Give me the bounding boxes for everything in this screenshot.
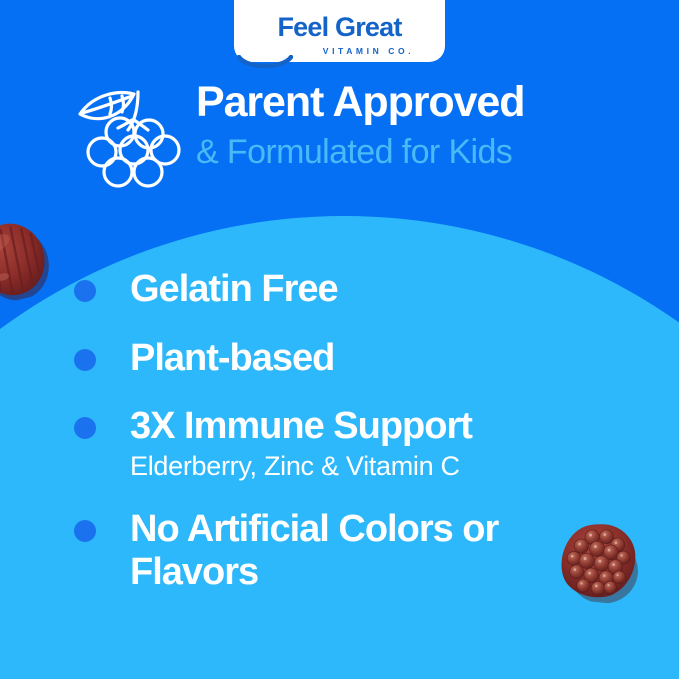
logo-wordmark: Feel Great [277,14,401,41]
list-item-title: Plant-based [130,337,634,380]
list-item: 3X Immune Support Elderberry, Zinc & Vit… [74,405,634,482]
header-text: Parent Approved & Formulated for Kids [196,80,666,172]
header-block: Parent Approved & Formulated for Kids [0,76,679,196]
list-item: Gelatin Free [74,268,634,311]
logo-tagline: VITAMIN CO. [323,47,414,56]
list-item-title: Gelatin Free [130,268,634,311]
elderberry-gummy-berry-icon [552,514,644,606]
list-item: Plant-based [74,337,634,380]
page-title: Parent Approved [196,80,666,125]
elderberry-gummy-ribbed-icon [0,209,57,307]
list-item-subtitle: Elderberry, Zinc & Vitamin C [130,450,634,482]
bullet-dot-icon [74,280,96,302]
smile-swoosh-icon [237,55,293,69]
list-item-body: Plant-based [130,337,634,380]
bullet-dot-icon [74,349,96,371]
product-feature-graphic: Feel Great VITAMIN CO. [0,0,679,679]
list-item-body: Gelatin Free [130,268,634,311]
bullet-dot-icon [74,417,96,439]
logo-card[interactable]: Feel Great VITAMIN CO. [234,0,445,62]
page-subtitle: & Formulated for Kids [196,133,666,172]
bullet-dot-icon [74,520,96,542]
list-item-title: 3X Immune Support [130,405,634,448]
feature-list: Gelatin Free Plant-based 3X Immune Suppo… [74,268,634,619]
list-item: No Artificial Colors or Flavors [74,508,634,593]
list-item-body: 3X Immune Support Elderberry, Zinc & Vit… [130,405,634,482]
elderberry-cluster-icon [72,84,190,194]
